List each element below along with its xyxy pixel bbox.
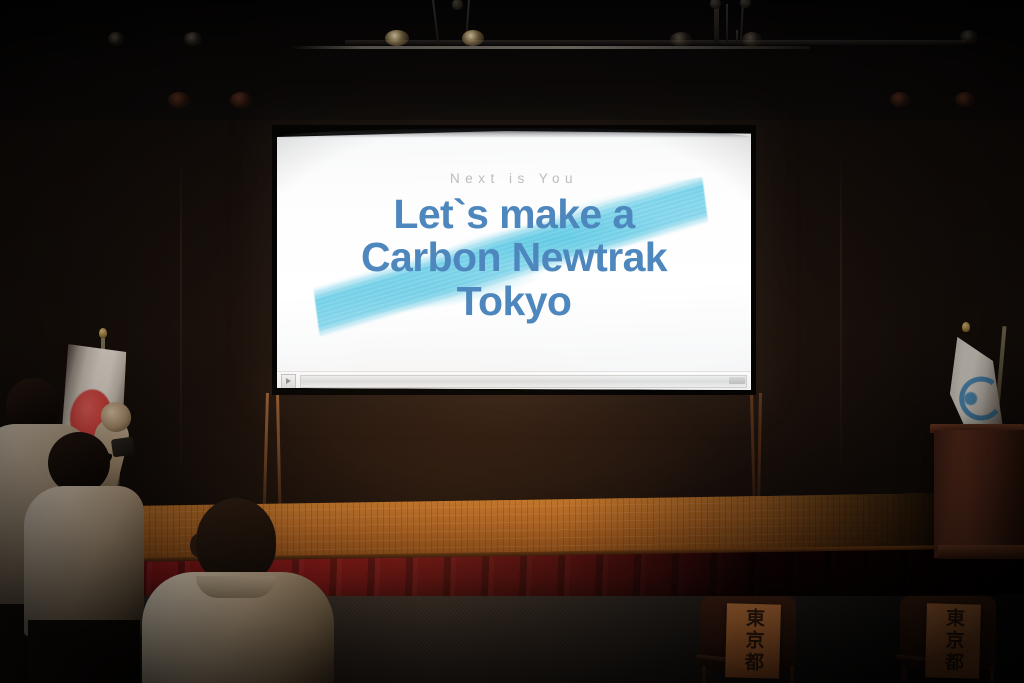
person-head — [48, 432, 110, 494]
person-collar — [196, 576, 276, 598]
chair-leg — [902, 666, 906, 683]
podium — [934, 430, 1024, 558]
play-button[interactable] — [281, 374, 296, 389]
ceiling-light — [385, 30, 409, 46]
ceiling-light — [184, 32, 202, 46]
rig-drop-wire — [726, 4, 728, 42]
podium-shading — [934, 430, 1024, 558]
ceiling-light — [955, 92, 975, 107]
slide-title: Let`s make a Carbon Newtrak Tokyo — [277, 193, 751, 323]
slide-title-line-3: Tokyo — [293, 280, 735, 323]
ceiling-light — [230, 92, 252, 108]
chair-leg — [990, 666, 994, 683]
handheld-camera — [111, 437, 135, 458]
podium-base — [938, 545, 1024, 559]
play-triangle-icon — [286, 378, 291, 384]
ceiling-light — [108, 32, 124, 46]
conference-hall-photo: Next is You Let`s make a Carbon Newtrak … — [0, 0, 1024, 683]
person-torso — [24, 486, 144, 636]
wall-seam — [840, 150, 842, 480]
ceiling-light — [462, 30, 484, 46]
ceiling-light — [742, 32, 762, 47]
ceiling-light — [168, 92, 190, 108]
horizontal-scrollbar[interactable] — [300, 375, 747, 388]
flag-finial-right — [962, 322, 970, 332]
chair-sign: 東京都 — [925, 603, 981, 678]
ceiling-light — [670, 32, 692, 47]
slide-title-line-2: Carbon Newtrak — [293, 236, 735, 279]
ceiling — [0, 0, 1024, 120]
projection-screen: Next is You Let`s make a Carbon Newtrak … — [277, 131, 751, 390]
chair-sign: 東京都 — [725, 603, 781, 678]
chair-sign-text: 東京都 — [743, 608, 764, 674]
rig-drop-wire — [736, 30, 738, 44]
slide-title-line-1: Let`s make a — [293, 193, 735, 236]
ceiling-light — [960, 30, 978, 44]
flag-finial-left — [99, 328, 107, 338]
chair-sign-text: 東京都 — [943, 608, 964, 674]
person-lower-body — [28, 620, 140, 683]
presentation-slide: Next is You Let`s make a Carbon Newtrak … — [277, 131, 751, 390]
truss-rail — [290, 46, 810, 49]
chair-leg — [790, 666, 794, 683]
ceiling-light — [890, 92, 910, 107]
wall-seam — [180, 150, 182, 480]
scrollbar-thumb[interactable] — [729, 377, 745, 384]
slide-control-bar[interactable] — [277, 371, 751, 390]
chair-leg — [702, 666, 706, 683]
